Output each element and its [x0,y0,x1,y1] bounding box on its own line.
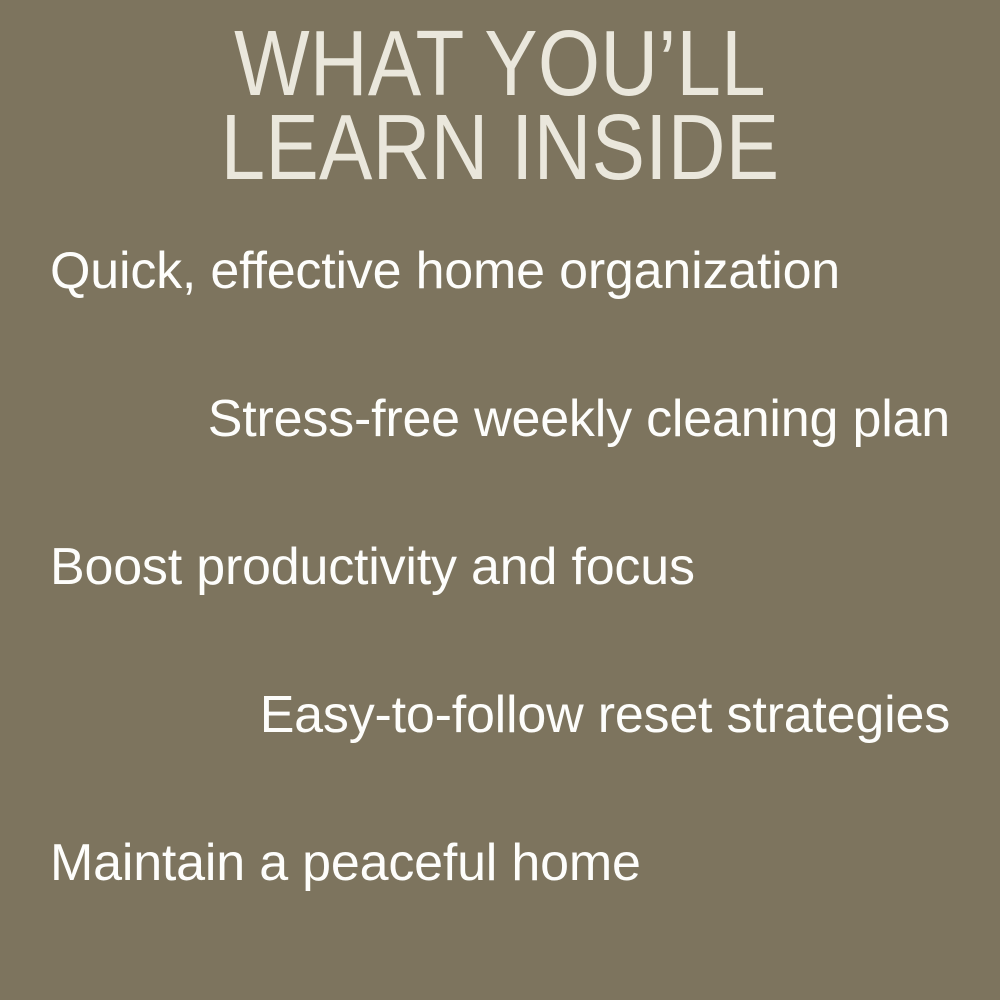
promo-slide: WHAT YOU’LL LEARN INSIDE Quick, effectiv… [0,0,1000,1000]
benefit-item-5: Maintain a peaceful home [50,828,950,898]
benefits-list: Quick, effective home organization Stres… [0,236,1000,956]
page-title-line-1: WHAT YOU’LL [70,22,930,106]
benefit-item-4: Easy-to-follow reset strategies [50,680,950,750]
page-title: WHAT YOU’LL LEARN INSIDE [70,0,930,189]
benefit-item-3: Boost productivity and focus [50,532,950,602]
page-title-line-2: LEARN INSIDE [70,106,930,190]
benefit-item-2: Stress-free weekly cleaning plan [50,384,950,454]
benefit-item-1: Quick, effective home organization [50,236,950,306]
